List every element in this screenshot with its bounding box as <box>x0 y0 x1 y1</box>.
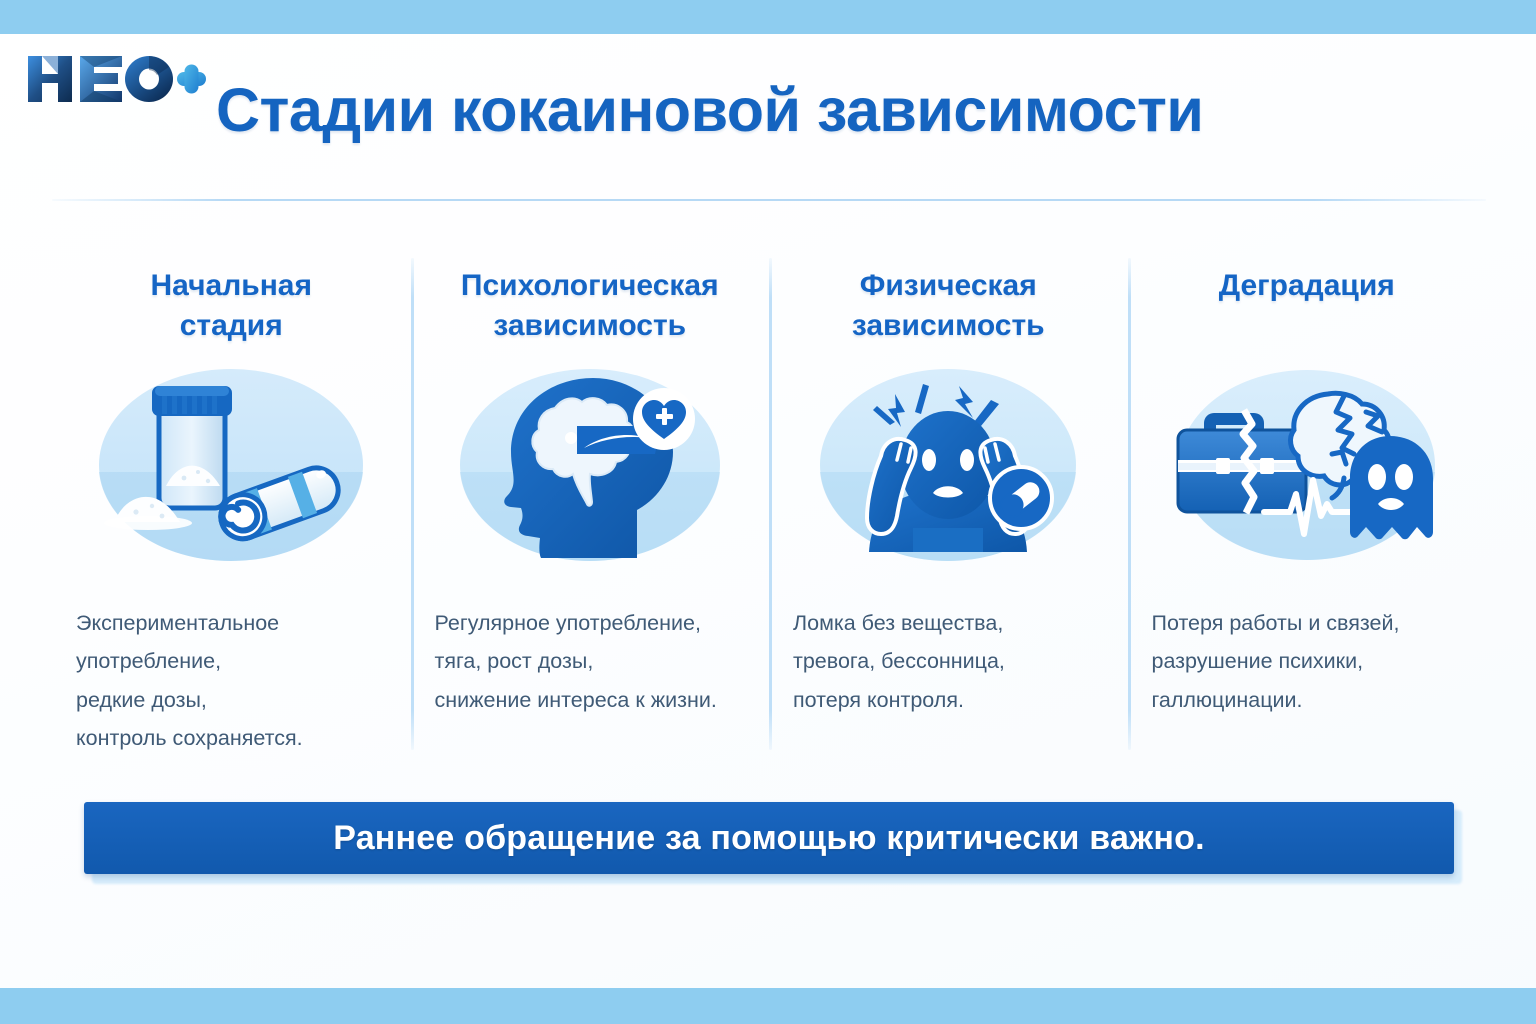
stage-column-degradation: Деградация <box>1128 252 1487 772</box>
stage-title-line2: стадия <box>180 309 283 342</box>
header-divider <box>52 199 1486 201</box>
broken-briefcase-cracked-brain-ghost-icon <box>1168 360 1446 574</box>
stage-column-psychological: Психологическая зависимость <box>411 252 770 772</box>
pill-jar-and-rolled-tube-icon <box>92 360 370 574</box>
desc-line: употребление, <box>76 642 303 680</box>
stage-description-physical: Ломка без вещества, тревога, бессонница,… <box>787 604 1005 719</box>
infographic-page: Стадии кокаиновой зависимости Начальная … <box>0 0 1536 1024</box>
stage-description-degradation: Потеря работы и связей, разрушение психи… <box>1146 604 1400 719</box>
desc-line: тревога, бессонница, <box>793 642 1005 680</box>
stage-title-line2: зависимость <box>493 309 686 342</box>
head-brain-heart-plus-icon <box>451 360 729 574</box>
bottom-accent-bar <box>0 988 1536 1024</box>
stage-title-line1: Психологическая <box>461 269 719 302</box>
stage-title-line1: Деградация <box>1219 269 1395 302</box>
stages-container: Начальная стадия <box>52 252 1486 772</box>
neo-plus-logo <box>22 48 208 110</box>
stage-title-line2: зависимость <box>852 309 1045 342</box>
stage-title-psychological: Психологическая зависимость <box>461 266 719 352</box>
stage-title-line1: Физическая <box>860 269 1037 302</box>
stage-description-psychological: Регулярное употребление, тяга, рост дозы… <box>429 604 717 719</box>
desc-line: галлюцинации. <box>1152 681 1400 719</box>
desc-line: тяга, рост дозы, <box>435 642 717 680</box>
stage-description-initial: Экспериментальное употребление, редкие д… <box>70 604 303 757</box>
desc-line: Потеря работы и связей, <box>1152 604 1400 642</box>
stage-column-initial: Начальная стадия <box>52 252 411 772</box>
stage-title-line1: Начальная <box>150 269 312 302</box>
top-accent-bar <box>0 0 1536 34</box>
stage-title-degradation: Деградация <box>1219 266 1395 352</box>
stage-title-initial: Начальная стадия <box>150 266 312 352</box>
desc-line: потеря контроля. <box>793 681 1005 719</box>
desc-line: снижение интереса к жизни. <box>435 681 717 719</box>
desc-line: редкие дозы, <box>76 681 303 719</box>
desc-line: контроль сохраняется. <box>76 719 303 757</box>
desc-line: Регулярное употребление, <box>435 604 717 642</box>
stage-title-physical: Физическая зависимость <box>852 266 1045 352</box>
call-to-action-banner: Раннее обращение за помощью критически в… <box>84 802 1454 874</box>
desc-line: разрушение психики, <box>1152 642 1400 680</box>
banner-text: Раннее обращение за помощью критически в… <box>333 819 1204 858</box>
page-title: Стадии кокаиновой зависимости <box>216 78 1286 142</box>
stage-column-physical: Физическая зависимость <box>769 252 1128 772</box>
desc-line: Экспериментальное <box>76 604 303 642</box>
desc-line: Ломка без вещества, <box>793 604 1005 642</box>
distressed-person-withdrawal-icon <box>809 360 1087 574</box>
